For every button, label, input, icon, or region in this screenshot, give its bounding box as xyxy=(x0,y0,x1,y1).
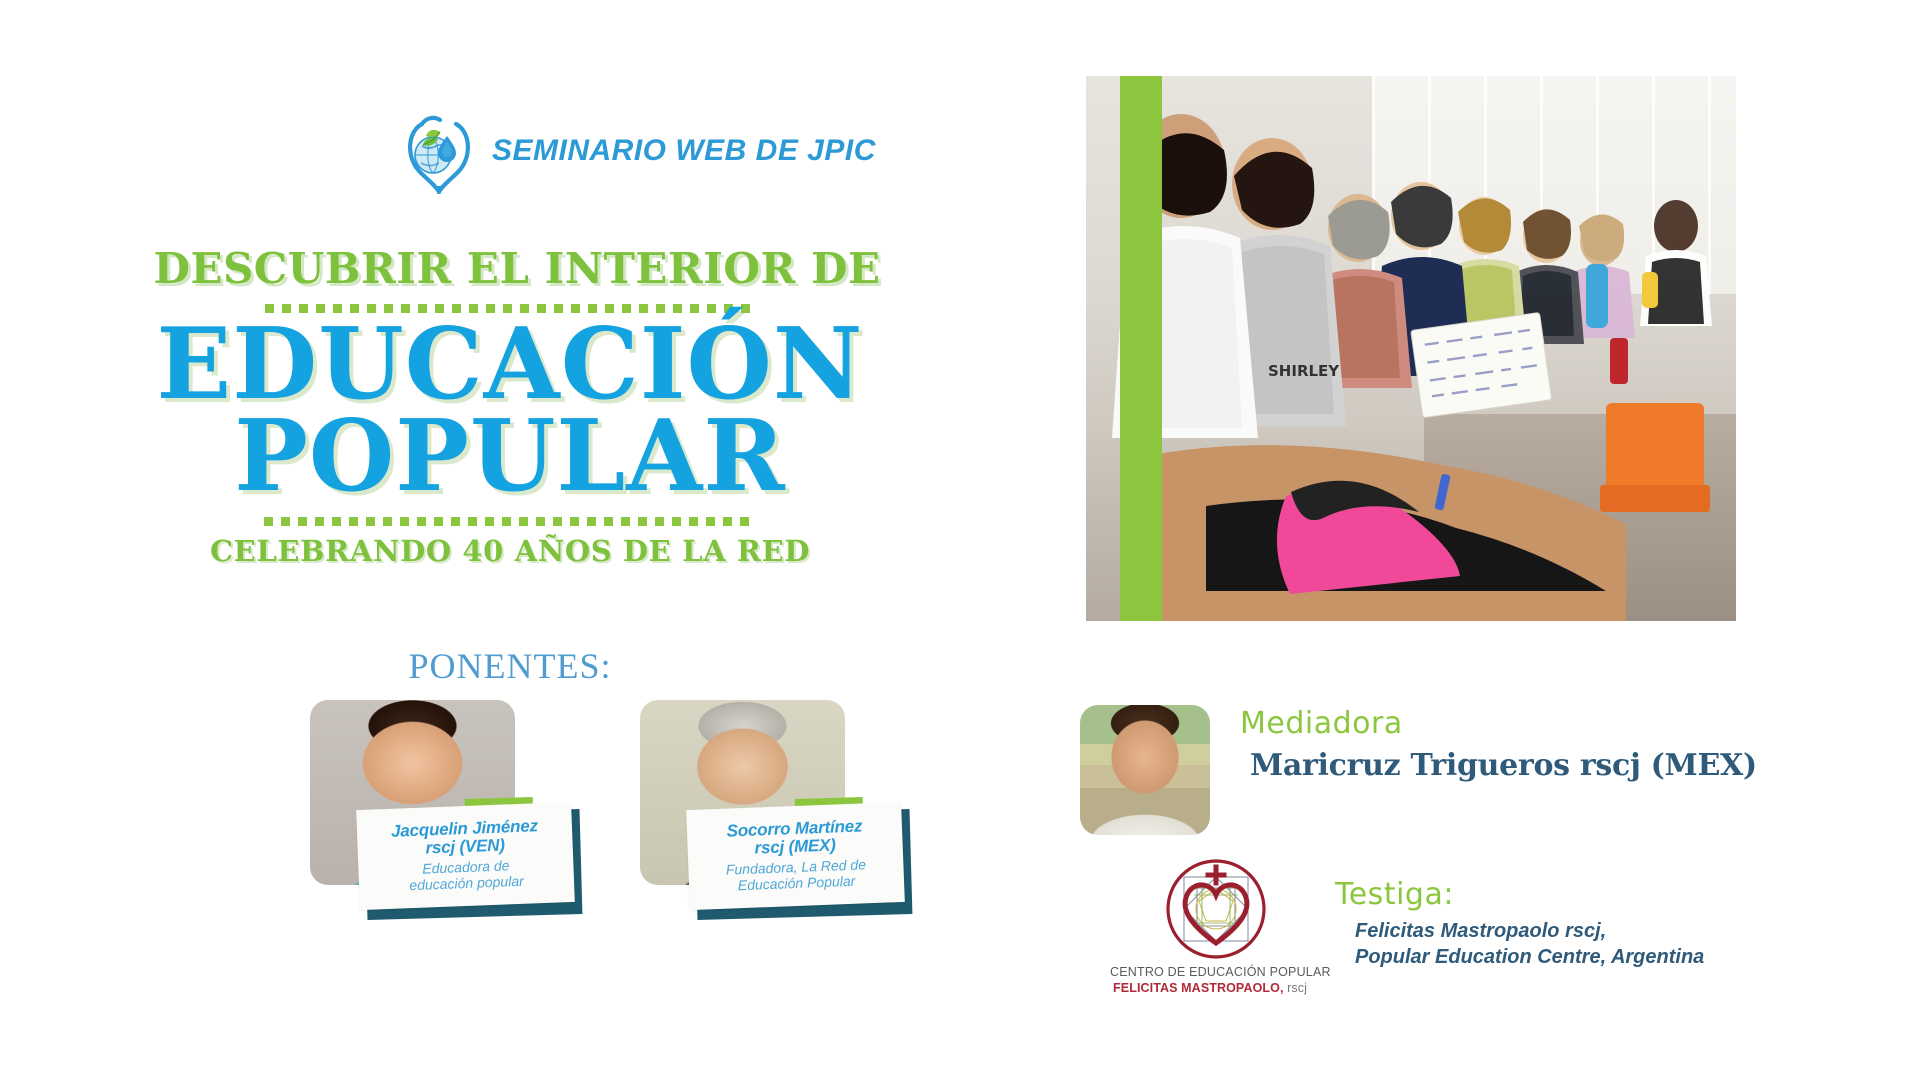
speaker-name: Socorro Martínez rscj (MEX) xyxy=(726,818,863,859)
left-column: SEMINARIO WEB DE JPIC DESCUBRIR EL INTER… xyxy=(0,0,1020,1080)
dotted-divider-bottom xyxy=(264,517,756,526)
headline-main-line2: POPULAR xyxy=(0,411,1020,503)
speaker-name-line2: rscj (VEN) xyxy=(425,836,505,858)
speaker-card[interactable]: Socorro Martínez rscj (MEX) Fundadora, L… xyxy=(630,700,950,1020)
speaker-role-line2: educación popular xyxy=(409,873,524,893)
speaker-card-text: Socorro Martínez rscj (MEX) Fundadora, L… xyxy=(686,802,905,910)
testiga-label: Testiga: xyxy=(1335,877,1454,912)
cep-logo-line2-bold: FELICITAS MASTROPAOLO, xyxy=(1113,981,1283,995)
speaker-role-line2: Educación Popular xyxy=(737,873,855,893)
speaker-role: Fundadora, La Red de Educación Popular xyxy=(726,857,867,894)
brand-title: SEMINARIO WEB DE JPIC xyxy=(492,134,876,168)
mediadora-label: Mediadora xyxy=(1240,706,1403,741)
speakers-heading: PONENTES: xyxy=(0,645,1020,687)
hero-accent-bar xyxy=(1120,76,1162,621)
hero-photo: SHIRLEY xyxy=(1086,76,1736,621)
right-column: SHIRLEY xyxy=(1020,0,1920,1080)
cep-org-logo: CENTRO DE EDUCACIÓN POPULAR FELICITAS MA… xyxy=(1110,855,1310,1015)
testiga-name: Felicitas Mastropaolo rscj, Popular Educ… xyxy=(1355,919,1704,970)
headline-main: EDUCACIÓN POPULAR xyxy=(0,319,1020,503)
speaker-name-line2: rscj (MEX) xyxy=(754,836,836,858)
cep-logo-line2: FELICITAS MASTROPAOLO, rscj xyxy=(1110,981,1310,995)
hero-photo-people: SHIRLEY xyxy=(1086,76,1736,621)
speaker-card[interactable]: Jacquelin Jiménez rscj (VEN) Educadora d… xyxy=(300,700,620,1020)
slide-root: SEMINARIO WEB DE JPIC DESCUBRIR EL INTER… xyxy=(0,0,1920,1080)
speaker-role: Educadora de educación popular xyxy=(408,858,524,894)
svg-text:SHIRLEY: SHIRLEY xyxy=(1268,362,1340,380)
jpic-globe-leaf-waterdrop-logo xyxy=(400,108,478,194)
testiga-name-line1: Felicitas Mastropaolo rscj, xyxy=(1355,920,1606,942)
mediadora-row: Mediadora Maricruz Trigueros rscj (MEX) xyxy=(1080,700,1920,850)
headline-block: DESCUBRIR EL INTERIOR DE EDUCACIÓN POPUL… xyxy=(0,248,1020,568)
testiga-row: CENTRO DE EDUCACIÓN POPULAR FELICITAS MA… xyxy=(1080,855,1920,1025)
speaker-card-text: Jacquelin Jiménez rscj (VEN) Educadora d… xyxy=(356,802,575,910)
testiga-name-line2: Popular Education Centre, Argentina xyxy=(1355,946,1704,968)
speakers-list: Jacquelin Jiménez rscj (VEN) Educadora d… xyxy=(300,700,1020,1030)
brand-lockup: SEMINARIO WEB DE JPIC xyxy=(400,108,876,194)
mediadora-name: Maricruz Trigueros rscj (MEX) xyxy=(1250,748,1757,783)
speaker-name: Jacquelin Jiménez rscj (VEN) xyxy=(391,818,539,859)
headline-eyebrow: DESCUBRIR EL INTERIOR DE xyxy=(0,248,1020,290)
cep-heart-circle-icon xyxy=(1164,855,1269,960)
cep-logo-line2-light: rscj xyxy=(1287,981,1307,995)
cep-logo-line1: CENTRO DE EDUCACIÓN POPULAR xyxy=(1110,965,1310,979)
mediadora-photo xyxy=(1080,705,1210,835)
headline-subline: CELEBRANDO 40 AÑOS DE LA RED xyxy=(0,534,1020,568)
